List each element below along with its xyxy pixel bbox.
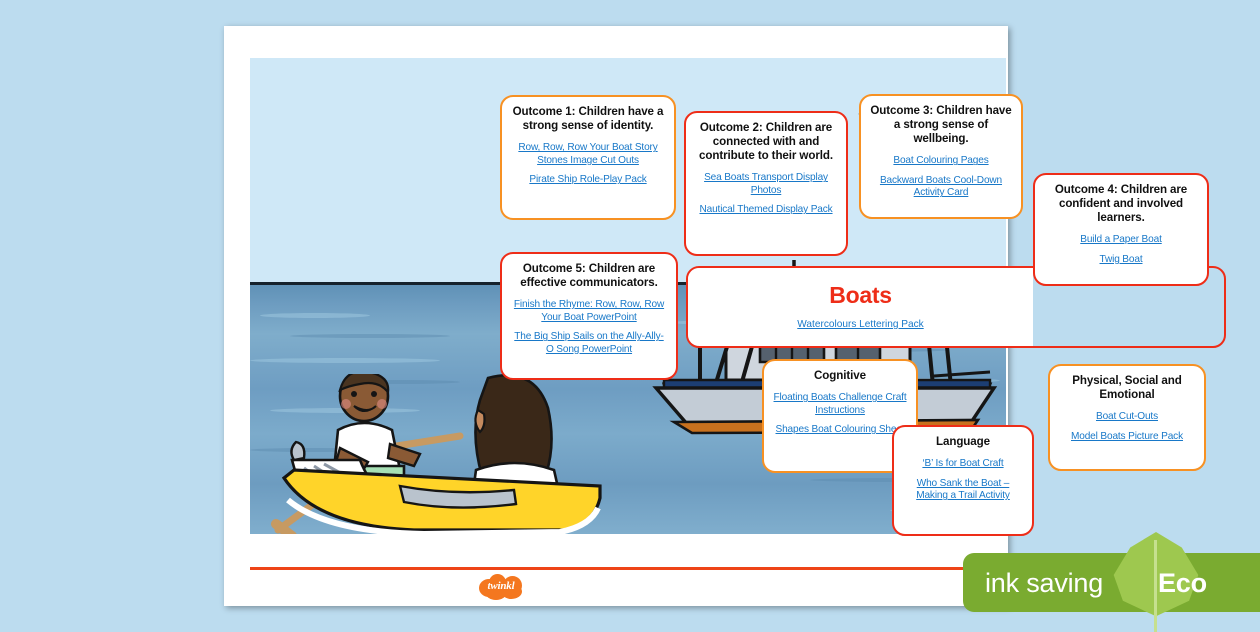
outcome-box-5-link-1[interactable]: Finish the Rhyme: Row, Row, Row Your Boa… (511, 299, 667, 324)
domain-box-cognitive-link-1[interactable]: Floating Boats Challenge Craft Instructi… (773, 392, 907, 417)
outcome-box-2: Outcome 2: Children are connected with a… (684, 111, 848, 256)
outcome-box-1-heading: Outcome 1: Children have a strong sense … (511, 105, 665, 133)
outcome-box-4-link-2[interactable]: Twig Boat (1044, 254, 1198, 267)
domain-box-language-link-1[interactable]: ‘B’ Is for Boat Craft (903, 458, 1023, 471)
outcome-box-3-link-2[interactable]: Backward Boats Cool-Down Activity Card (870, 175, 1012, 200)
water-ripple (290, 334, 450, 338)
twinkl-logo-text: twinkl (477, 580, 525, 592)
domain-box-pse-link-1[interactable]: Boat Cut-Outs (1059, 411, 1195, 424)
outcome-box-2-link-1[interactable]: Sea Boats Transport Display Photos (695, 172, 837, 197)
outcome-box-1-link-2[interactable]: Pirate Ship Role-Play Pack (511, 174, 665, 187)
outcome-box-3-link-1[interactable]: Boat Colouring Pages (870, 155, 1012, 168)
eco-badge-word: Eco (1158, 568, 1207, 599)
outcome-box-3: Outcome 3: Children have a strong sense … (859, 94, 1023, 219)
poster-sheet: TWINKL (224, 26, 1008, 606)
domain-box-cognitive-heading: Cognitive (773, 369, 907, 383)
outcome-box-1-link-1[interactable]: Row, Row, Row Your Boat Story Stones Ima… (511, 142, 665, 167)
outcome-box-5: Outcome 5: Children are effective commun… (500, 252, 678, 380)
water-ripple (250, 358, 440, 363)
eco-badge-label: ink saving (985, 568, 1103, 599)
water-ripple (260, 313, 370, 318)
page-title: Boats (688, 282, 1033, 309)
domain-box-pse-heading: Physical, Social and Emotional (1059, 374, 1195, 402)
outcome-box-1: Outcome 1: Children have a strong sense … (500, 95, 676, 220)
outcome-box-4-heading: Outcome 4: Children are confident and in… (1044, 183, 1198, 225)
outcome-box-4: Outcome 4: Children are confident and in… (1033, 173, 1209, 286)
domain-box-language-heading: Language (903, 435, 1023, 449)
link-watercolours-lettering-pack[interactable]: Watercolours Lettering Pack (688, 319, 1033, 330)
outcome-box-5-heading: Outcome 5: Children are effective commun… (511, 262, 667, 290)
footer-divider (250, 567, 1006, 570)
outcome-box-5-link-2[interactable]: The Big Ship Sails on the Ally-Ally-O So… (511, 331, 667, 356)
outcome-box-4-link-1[interactable]: Build a Paper Boat (1044, 234, 1198, 247)
domain-box-language-link-2[interactable]: Who Sank the Boat – Making a Trail Activ… (903, 478, 1023, 503)
outcome-box-2-link-2[interactable]: Nautical Themed Display Pack (695, 204, 837, 217)
outcome-box-2-heading: Outcome 2: Children are connected with a… (695, 121, 837, 163)
domain-box-language: Language ‘B’ Is for Boat Craft Who Sank … (892, 425, 1034, 536)
rowboat-with-children-illustration (264, 374, 614, 534)
ink-saving-eco-badge: ink saving Eco (963, 532, 1260, 630)
outcome-box-3-heading: Outcome 3: Children have a strong sense … (870, 104, 1012, 146)
twinkl-logo[interactable]: twinkl (477, 574, 525, 600)
domain-box-physical-social-emotional: Physical, Social and Emotional Boat Cut-… (1048, 364, 1206, 471)
domain-box-pse-link-2[interactable]: Model Boats Picture Pack (1059, 431, 1195, 444)
domain-box-cognitive-link-2[interactable]: Shapes Boat Colouring Sheet (773, 424, 907, 437)
